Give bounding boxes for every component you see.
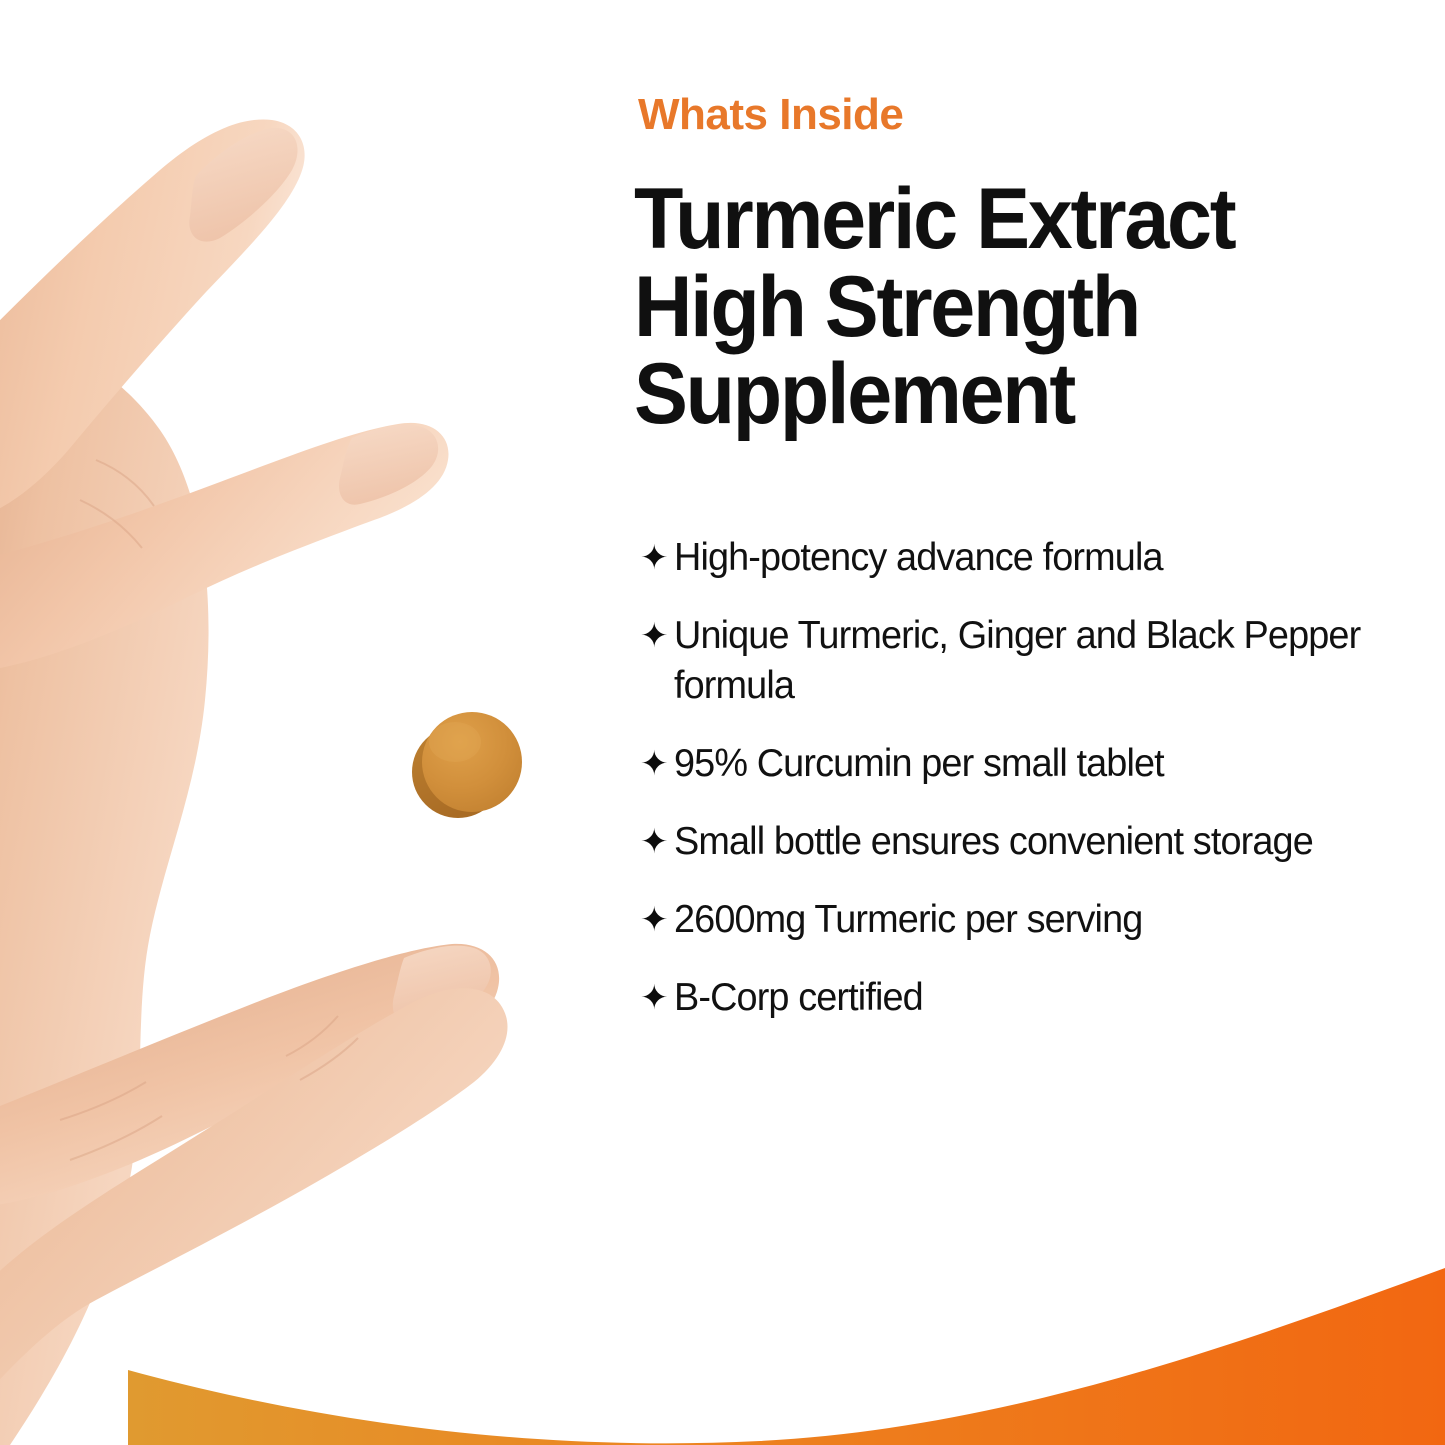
list-item: ✦ 95% Curcumin per small tablet [640, 739, 1396, 789]
text-column: Whats Inside Turmeric Extract High Stren… [638, 0, 1398, 1445]
list-item-label: Unique Turmeric, Ginger and Black Pepper… [674, 611, 1374, 711]
four-pointed-star-icon: ✦ [640, 533, 674, 583]
four-pointed-star-icon: ✦ [640, 611, 674, 661]
list-item: ✦ Small bottle ensures convenient storag… [640, 817, 1396, 867]
headline-line-3: Supplement [634, 351, 1330, 439]
headline-line-2: High Strength [634, 264, 1330, 352]
eyebrow-label: Whats Inside [638, 93, 903, 137]
list-item: ✦ Unique Turmeric, Ginger and Black Pepp… [640, 611, 1396, 711]
four-pointed-star-icon: ✦ [640, 817, 674, 867]
list-item: ✦ 2600mg Turmeric per serving [640, 895, 1396, 945]
product-infographic: Whats Inside Turmeric Extract High Stren… [0, 0, 1445, 1445]
four-pointed-star-icon: ✦ [640, 973, 674, 1023]
list-item-label: 2600mg Turmeric per serving [674, 895, 1374, 945]
four-pointed-star-icon: ✦ [640, 895, 674, 945]
list-item-label: High-potency advance formula [674, 533, 1374, 583]
page-title: Turmeric Extract High Strength Supplemen… [634, 176, 1330, 439]
list-item: ✦ High-potency advance formula [640, 533, 1396, 583]
hand-holding-tablet-photo [0, 0, 620, 1445]
feature-list: ✦ High-potency advance formula ✦ Unique … [640, 533, 1396, 1023]
list-item: ✦ B-Corp certified [640, 973, 1396, 1023]
four-pointed-star-icon: ✦ [640, 739, 674, 789]
headline-line-1: Turmeric Extract [634, 176, 1330, 264]
list-item-label: Small bottle ensures convenient storage [674, 817, 1374, 867]
list-item-label: 95% Curcumin per small tablet [674, 739, 1374, 789]
list-item-label: B-Corp certified [674, 973, 1374, 1023]
